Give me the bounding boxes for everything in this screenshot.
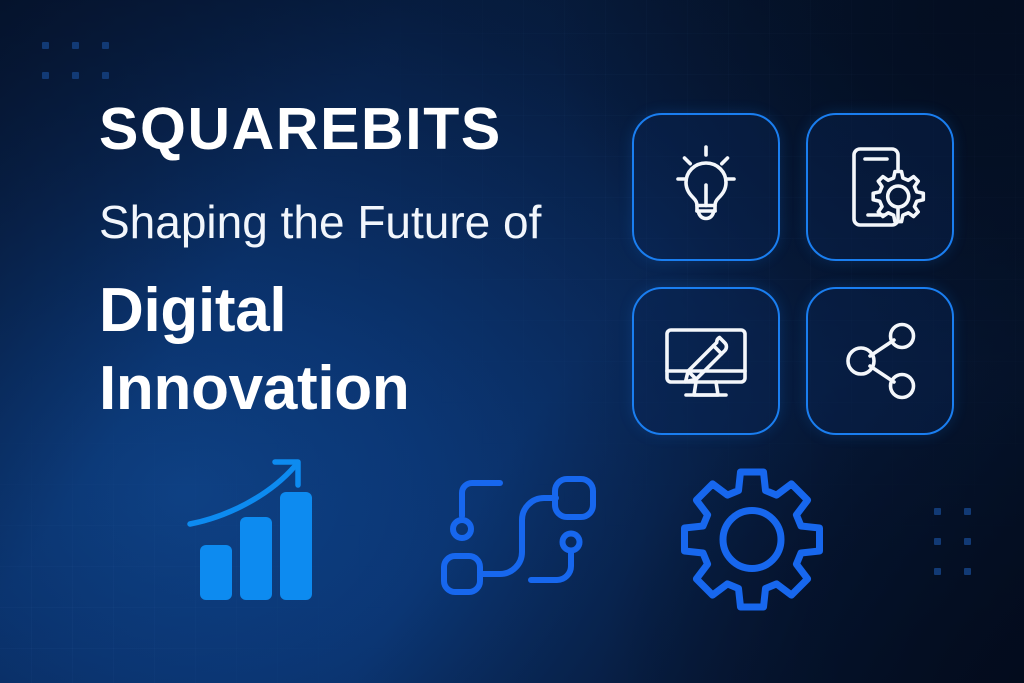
- dot: [102, 72, 109, 79]
- decorative-dot-grid-bottom-right: [934, 508, 971, 575]
- brand-name: SQUAREBITS: [99, 100, 619, 159]
- node-flow-graphic: [438, 470, 600, 601]
- mobile-gear-icon: [832, 139, 928, 235]
- gear-icon: [676, 466, 828, 618]
- headline: Digital Innovation: [99, 272, 619, 428]
- dot: [934, 508, 941, 515]
- dot: [42, 42, 49, 49]
- dot: [934, 538, 941, 545]
- icon-card-design[interactable]: [632, 287, 780, 435]
- lightbulb-icon: [658, 139, 754, 235]
- dot: [964, 568, 971, 575]
- node-flow-icon: [438, 470, 600, 601]
- dot: [72, 72, 79, 79]
- pencil-glyph: [686, 338, 727, 382]
- growth-chart-graphic: [186, 455, 322, 600]
- headline-text-block: SQUAREBITS Shaping the Future of Digital…: [99, 100, 619, 428]
- dot: [42, 72, 49, 79]
- gear-graphic: [676, 466, 828, 618]
- icon-card-share[interactable]: [806, 287, 954, 435]
- headline-line-2: Innovation: [99, 350, 619, 428]
- decorative-dot-grid-top-left: [42, 42, 109, 79]
- tagline-text: Shaping the Future of: [99, 199, 619, 245]
- icon-card-idea[interactable]: [632, 113, 780, 261]
- dot: [964, 538, 971, 545]
- dot: [102, 42, 109, 49]
- growth-chart-icon: [186, 455, 322, 600]
- icon-card-mobile-development[interactable]: [806, 113, 954, 261]
- monitor-pencil-icon: [658, 313, 754, 409]
- promotional-banner: SQUAREBITS Shaping the Future of Digital…: [0, 0, 1024, 683]
- dot: [72, 42, 79, 49]
- headline-line-1: Digital: [99, 272, 619, 350]
- dot: [934, 568, 941, 575]
- dot: [964, 508, 971, 515]
- icon-card-grid: [632, 113, 954, 435]
- share-network-icon: [832, 313, 928, 409]
